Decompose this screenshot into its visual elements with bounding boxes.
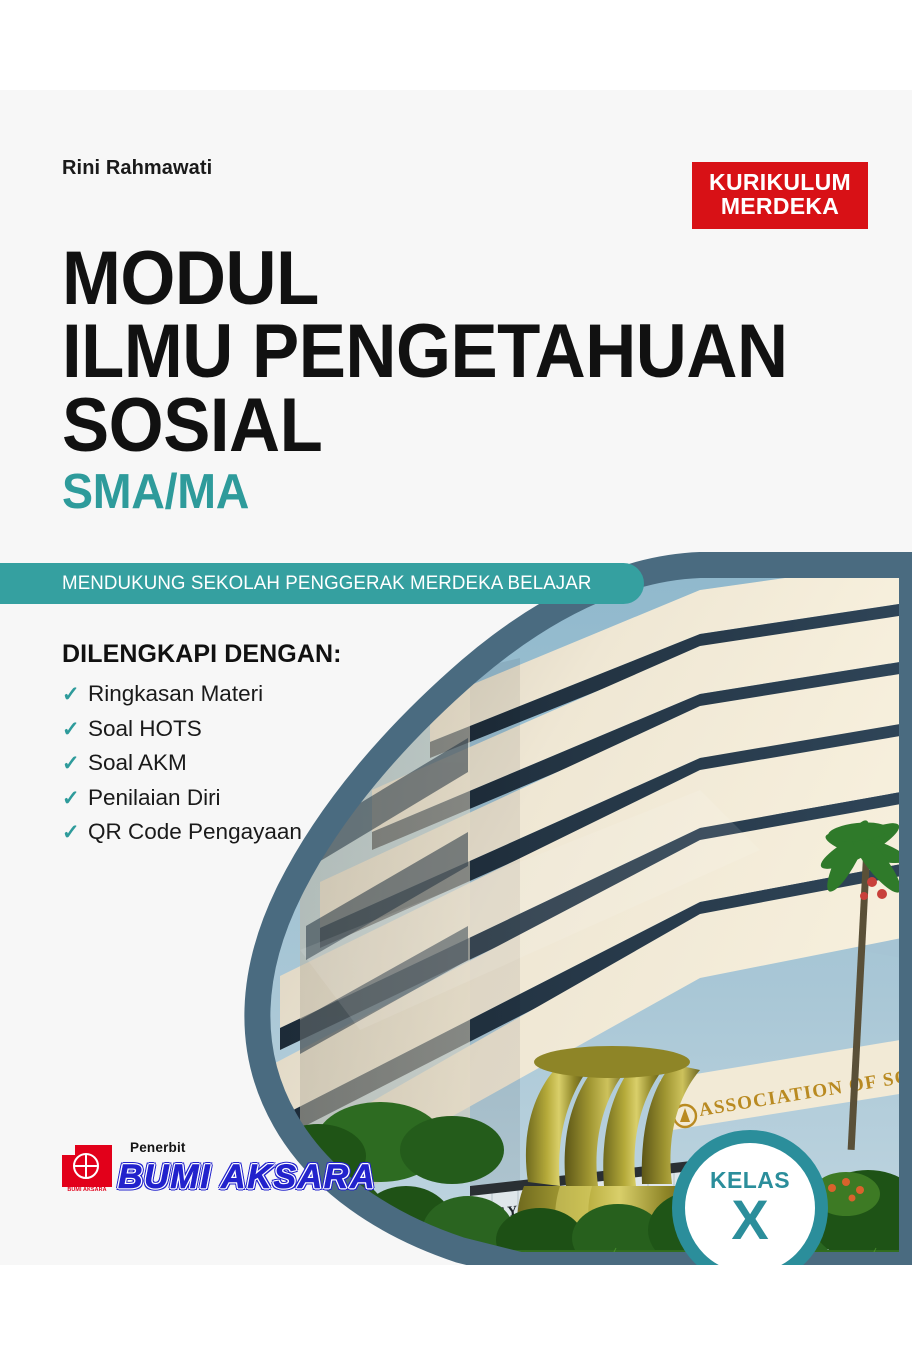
book-cover-page: ASSOCIATION OF SOUTHE <box>0 0 912 1359</box>
check-icon: ✓ <box>62 788 88 809</box>
feature-label: QR Code Pengayaan <box>88 817 302 848</box>
check-icon: ✓ <box>62 822 88 843</box>
check-icon: ✓ <box>62 719 88 740</box>
publisher-name: BUMI AKSARA <box>118 1158 376 1196</box>
list-item: ✓ Ringkasan Materi <box>62 679 342 710</box>
features-heading: DILENGKAPI DENGAN: <box>62 640 342 669</box>
author-name: Rini Rahmawati <box>62 157 212 180</box>
title-line-3: SOSIAL <box>62 389 788 462</box>
book-title: MODUL ILMU PENGETAHUAN SOSIAL SMA/MA <box>62 242 842 517</box>
cover-canvas: ASSOCIATION OF SOUTHE <box>0 90 912 1265</box>
kelas-value: X <box>731 1193 768 1246</box>
tagline-text: MENDUKUNG SEKOLAH PENGGERAK MERDEKA BELA… <box>62 572 591 595</box>
feature-label: Penilaian Diri <box>88 783 221 814</box>
publisher-logo: BUMI AKSARA Penerbit BUMI AKSARA <box>62 1145 376 1195</box>
publisher-label: Penerbit <box>130 1140 186 1155</box>
list-item: ✓ QR Code Pengayaan <box>62 817 342 848</box>
feature-label: Soal HOTS <box>88 714 202 745</box>
globe-b-logo-icon: BUMI AKSARA <box>62 1145 112 1195</box>
tagline-banner: MENDUKUNG SEKOLAH PENGGERAK MERDEKA BELA… <box>0 563 644 604</box>
list-item: ✓ Soal HOTS <box>62 714 342 745</box>
kurikulum-badge-line2: MERDEKA <box>709 195 851 219</box>
check-icon: ✓ <box>62 753 88 774</box>
education-level: SMA/MA <box>62 468 803 517</box>
kurikulum-merdeka-badge: KURIKULUM MERDEKA <box>692 162 868 229</box>
check-icon: ✓ <box>62 684 88 705</box>
feature-label: Ringkasan Materi <box>88 679 263 710</box>
title-line-2: ILMU PENGETAHUAN <box>62 315 788 388</box>
list-item: ✓ Soal AKM <box>62 748 342 779</box>
kurikulum-badge-line1: KURIKULUM <box>709 171 851 195</box>
features-list: DILENGKAPI DENGAN: ✓ Ringkasan Materi ✓ … <box>62 640 342 852</box>
title-line-1: MODUL <box>62 242 788 315</box>
publisher-mark-caption: BUMI AKSARA <box>62 1187 112 1193</box>
feature-label: Soal AKM <box>88 748 187 779</box>
list-item: ✓ Penilaian Diri <box>62 783 342 814</box>
